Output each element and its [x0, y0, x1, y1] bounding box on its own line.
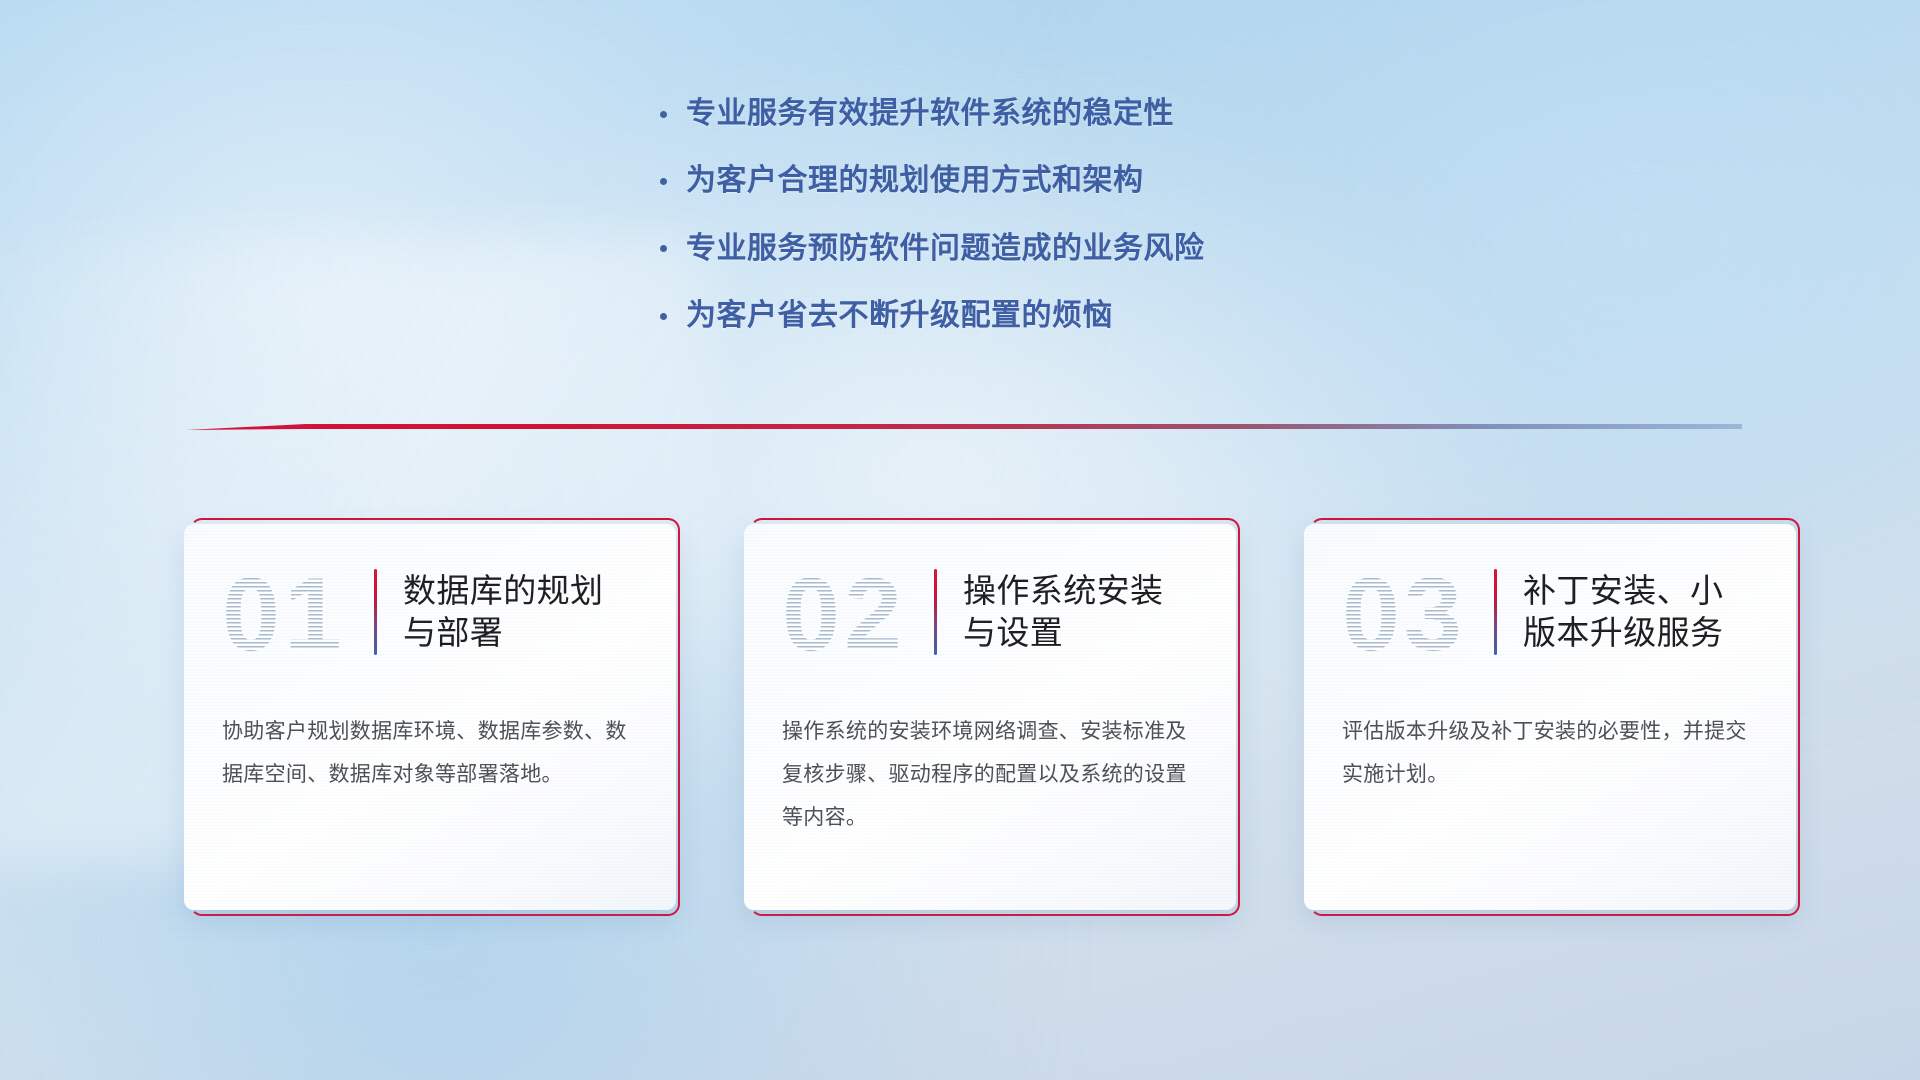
- card-number-text: 03: [1342, 558, 1466, 666]
- list-item: 为客户省去不断升级配置的烦恼: [660, 298, 1480, 333]
- card-header: 02 操作系统安装 与设置: [744, 524, 1236, 674]
- bullet-dot-icon: [660, 99, 686, 125]
- card-title: 操作系统安装 与设置: [963, 570, 1163, 654]
- list-item: 为客户合理的规划使用方式和架构: [660, 163, 1480, 198]
- service-card[interactable]: 02 操作系统安装 与设置 操作系统的安装环境网络调查、安装标准及复核步骤、驱动…: [744, 518, 1240, 916]
- card-number-graphic: 03: [1320, 558, 1488, 666]
- card-panel: 03 补丁安装、小 版本升级服务 评估版本升级及补丁安装的必要性，并提交实施计划…: [1304, 524, 1796, 910]
- card-panel: 01 数据库的规划 与部署 协助客户规划数据库环境、数据库参数、数据库空间、数据…: [184, 524, 676, 910]
- card-description: 协助客户规划数据库环境、数据库参数、数据库空间、数据库对象等部署落地。: [184, 674, 676, 796]
- card-description: 操作系统的安装环境网络调查、安装标准及复核步骤、驱动程序的配置以及系统的设置等内…: [744, 674, 1236, 839]
- card-title: 补丁安装、小 版本升级服务: [1523, 570, 1723, 654]
- list-item: 专业服务有效提升软件系统的稳定性: [660, 96, 1480, 131]
- card-header: 03 补丁安装、小 版本升级服务: [1304, 524, 1796, 674]
- bullet-text: 专业服务有效提升软件系统的稳定性: [686, 96, 1174, 131]
- card-header: 01 数据库的规划 与部署: [184, 524, 676, 674]
- slide-content: 专业服务有效提升软件系统的稳定性 为客户合理的规划使用方式和架构 专业服务预防软…: [0, 0, 1920, 1080]
- bullet-dot-icon: [660, 234, 686, 260]
- list-item: 专业服务预防软件问题造成的业务风险: [660, 231, 1480, 266]
- card-number-text: 01: [222, 558, 346, 666]
- card-number-text: 02: [782, 558, 906, 666]
- bullet-text: 专业服务预防软件问题造成的业务风险: [686, 231, 1205, 266]
- card-title-rule: [934, 569, 937, 655]
- card-number-graphic: 02: [760, 558, 928, 666]
- card-title-rule: [374, 569, 377, 655]
- section-divider: [186, 418, 1742, 440]
- bullet-text: 为客户省去不断升级配置的烦恼: [686, 298, 1113, 333]
- service-card[interactable]: 03 补丁安装、小 版本升级服务 评估版本升级及补丁安装的必要性，并提交实施计划…: [1304, 518, 1800, 916]
- benefits-bullet-list: 专业服务有效提升软件系统的稳定性 为客户合理的规划使用方式和架构 专业服务预防软…: [660, 96, 1480, 366]
- card-title: 数据库的规划 与部署: [403, 570, 603, 654]
- card-description: 评估版本升级及补丁安装的必要性，并提交实施计划。: [1304, 674, 1796, 796]
- card-number-graphic: 01: [200, 558, 368, 666]
- service-card[interactable]: 01 数据库的规划 与部署 协助客户规划数据库环境、数据库参数、数据库空间、数据…: [184, 518, 680, 916]
- bullet-text: 为客户合理的规划使用方式和架构: [686, 163, 1144, 198]
- bullet-dot-icon: [660, 301, 686, 327]
- card-panel: 02 操作系统安装 与设置 操作系统的安装环境网络调查、安装标准及复核步骤、驱动…: [744, 524, 1236, 910]
- service-card-list: 01 数据库的规划 与部署 协助客户规划数据库环境、数据库参数、数据库空间、数据…: [184, 518, 1804, 916]
- card-title-rule: [1494, 569, 1497, 655]
- bullet-dot-icon: [660, 166, 686, 192]
